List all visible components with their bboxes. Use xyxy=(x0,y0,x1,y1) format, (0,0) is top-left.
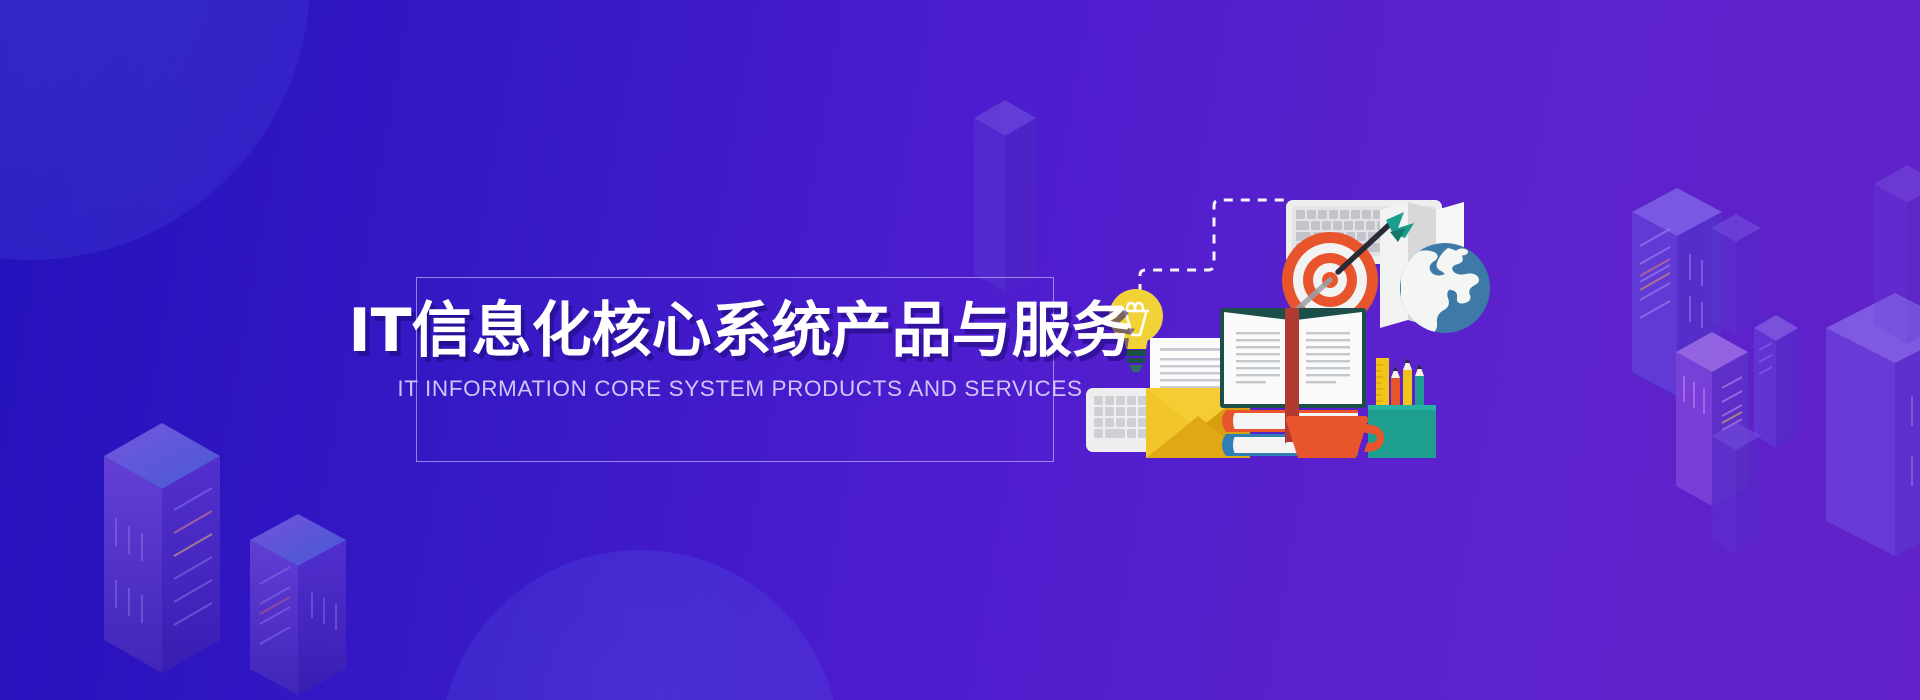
isometric-building-left-tall xyxy=(72,418,252,700)
hero-banner: IT信息化核心系统产品与服务 IT INFORMATION CORE SYSTE… xyxy=(0,0,1920,700)
hero-illustration xyxy=(1090,120,1550,470)
isometric-building-mid-top xyxy=(960,96,1050,306)
isometric-building-right-far xyxy=(1860,160,1920,360)
isometric-building-right-e xyxy=(1700,418,1772,568)
circle-top-left-shape xyxy=(0,0,310,260)
circle-bottom-center-shape xyxy=(440,550,840,700)
page-subtitle: IT INFORMATION CORE SYSTEM PRODUCTS AND … xyxy=(340,376,1140,402)
isometric-building-left-short xyxy=(228,510,368,700)
page-title: IT信息化核心系统产品与服务 xyxy=(340,300,1140,362)
headline-block: IT信息化核心系统产品与服务 IT INFORMATION CORE SYSTE… xyxy=(340,300,1140,402)
